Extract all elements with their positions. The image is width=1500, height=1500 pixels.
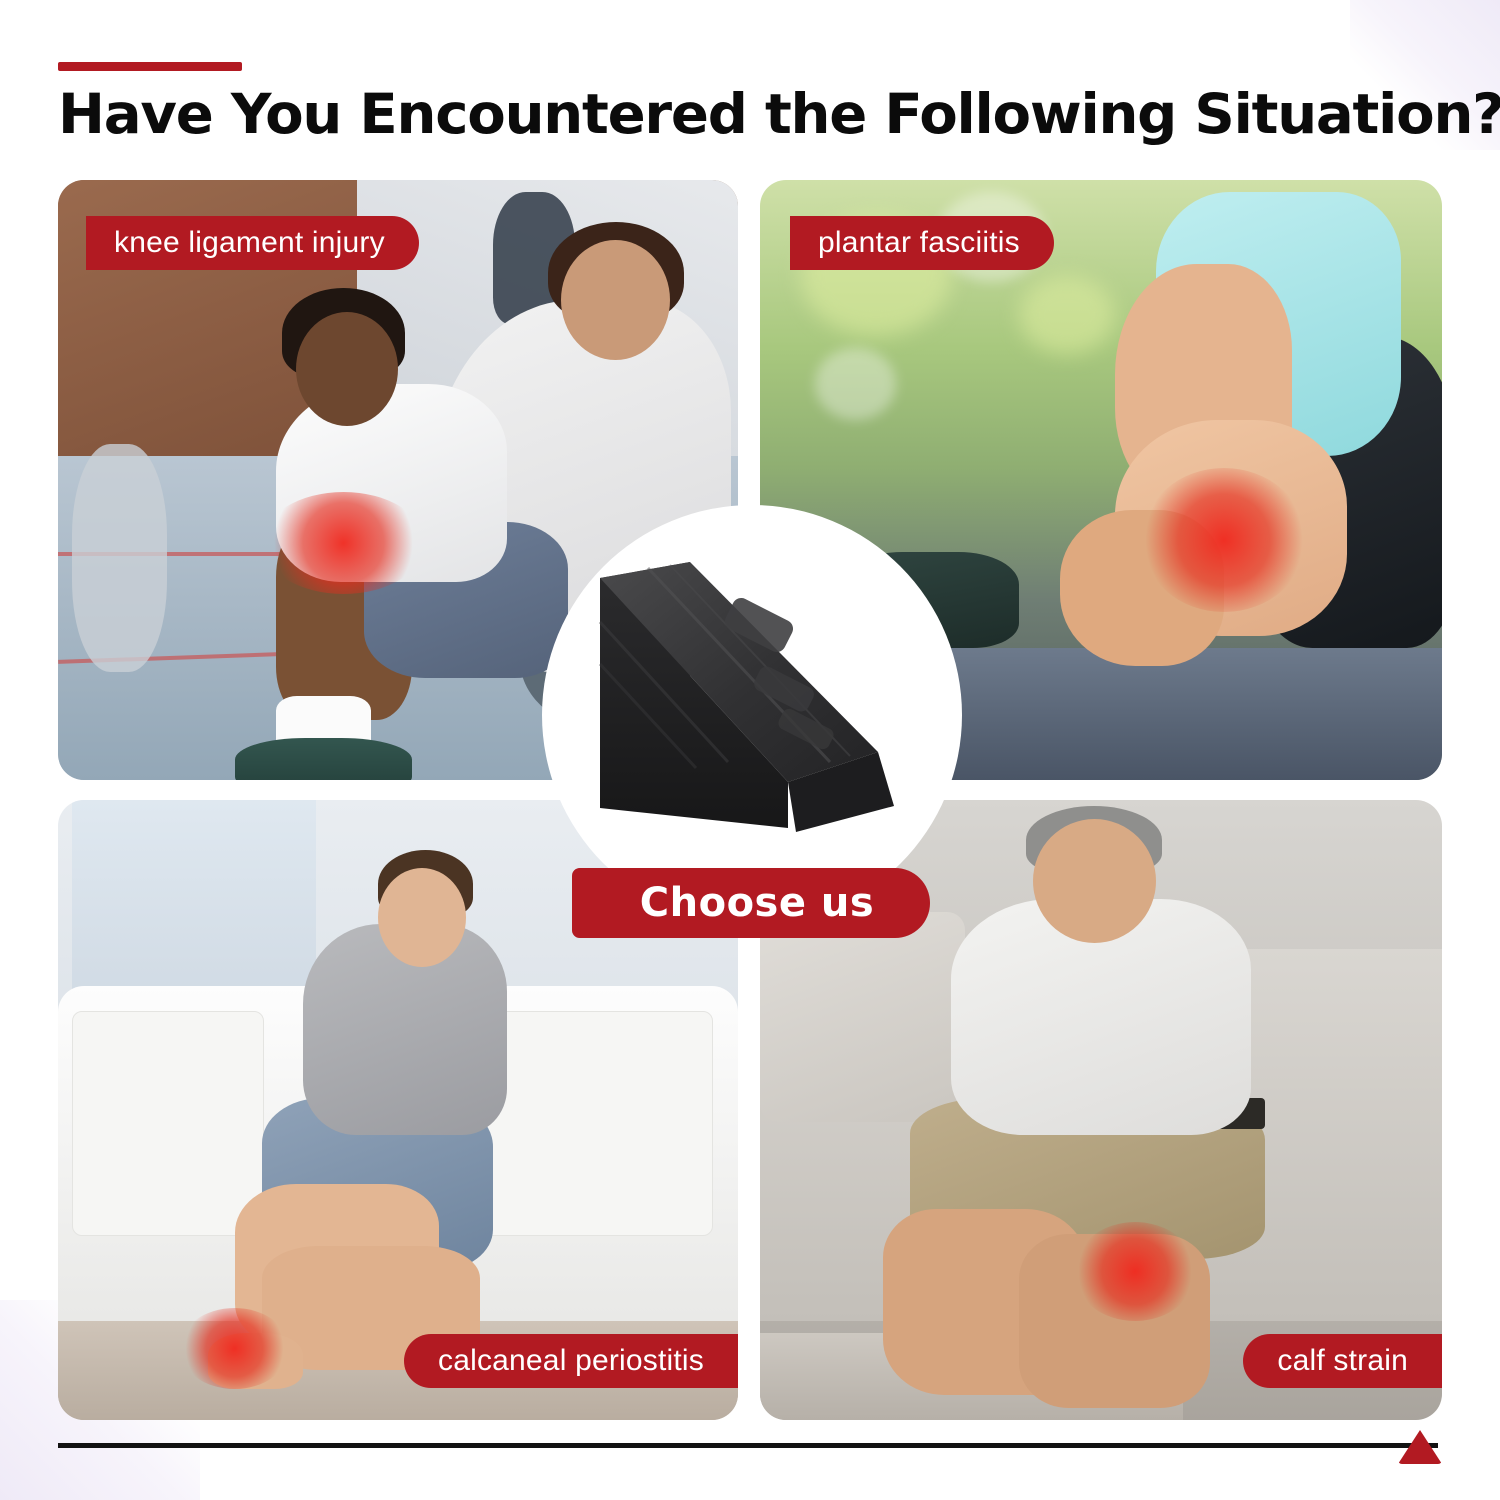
athlete-shoe — [235, 738, 412, 780]
bokeh-3 — [1019, 276, 1114, 354]
sofa-armrest — [760, 912, 965, 1123]
label-knee-ligament-injury: knee ligament injury — [86, 216, 419, 270]
pain-glow-heel-icon — [180, 1308, 289, 1389]
bottom-divider — [58, 1443, 1438, 1448]
choose-us-label: Choose us — [640, 880, 874, 926]
page-title: Have You Encountered the Following Situa… — [58, 82, 1486, 146]
pain-glow-heel-icon — [1142, 468, 1306, 612]
label-calf-strain: calf strain — [1243, 1334, 1442, 1388]
title-accent-bar — [58, 62, 242, 71]
poster-stage: Have You Encountered the Following Situa… — [0, 0, 1500, 1500]
man-head — [1033, 819, 1156, 943]
pain-glow-calf-icon — [1074, 1222, 1197, 1321]
choose-us-badge[interactable]: Choose us — [572, 868, 930, 938]
label-plantar-fasciitis: plantar fasciitis — [790, 216, 1054, 270]
product-wedge-icon — [578, 556, 926, 856]
label-calcaneal-periostitis: calcaneal periostitis — [404, 1334, 738, 1388]
man-head — [378, 868, 466, 967]
background-person-left — [72, 444, 167, 672]
sofa-cushion-right — [480, 1011, 713, 1236]
pain-glow-knee-icon — [262, 492, 425, 594]
coach-head — [561, 240, 670, 360]
bokeh-4 — [815, 348, 897, 420]
athlete-head — [296, 312, 398, 426]
sofa-cushion-left — [72, 1011, 264, 1236]
red-triangle-icon — [1398, 1430, 1442, 1464]
